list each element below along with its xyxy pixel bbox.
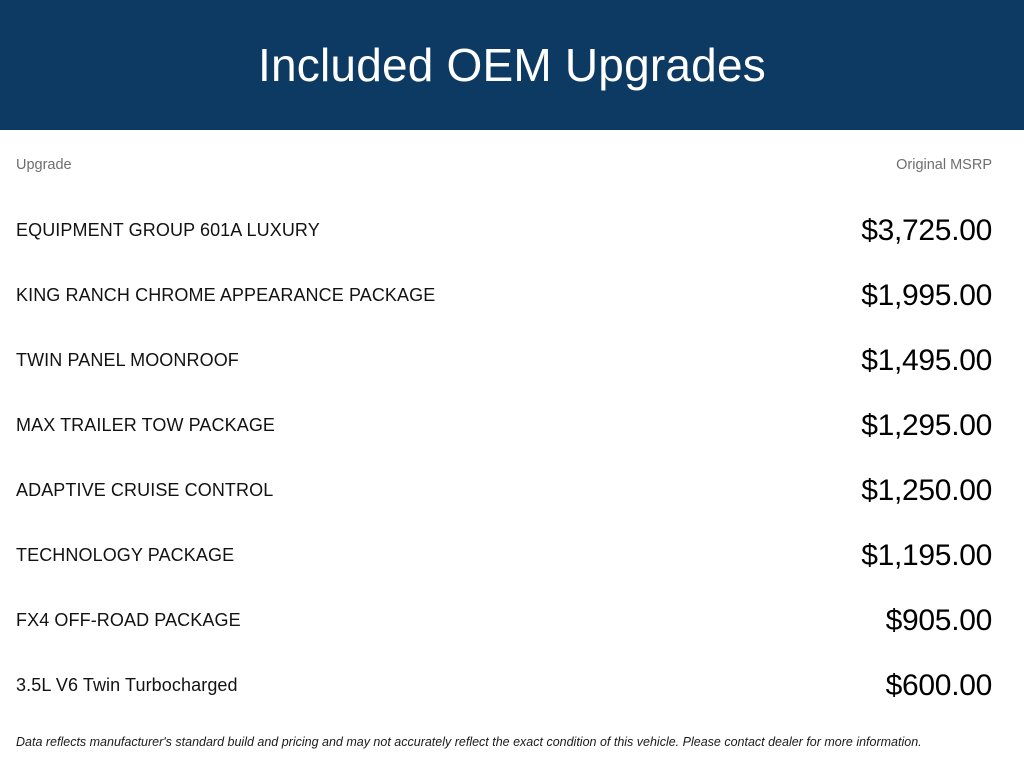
upgrade-msrp: $1,295.00 bbox=[861, 409, 992, 442]
upgrade-name: KING RANCH CHROME APPEARANCE PACKAGE bbox=[16, 286, 435, 306]
table-row: TWIN PANEL MOONROOF $1,495.00 bbox=[16, 328, 992, 393]
page-title: Included OEM Upgrades bbox=[258, 42, 766, 88]
upgrade-name: EQUIPMENT GROUP 601A LUXURY bbox=[16, 221, 320, 241]
upgrade-msrp: $600.00 bbox=[886, 669, 992, 702]
table-row: ADAPTIVE CRUISE CONTROL $1,250.00 bbox=[16, 458, 992, 523]
upgrade-name: TECHNOLOGY PACKAGE bbox=[16, 546, 234, 566]
table-rows: EQUIPMENT GROUP 601A LUXURY $3,725.00 KI… bbox=[16, 198, 992, 718]
upgrade-msrp: $905.00 bbox=[886, 604, 992, 637]
upgrade-msrp: $1,195.00 bbox=[861, 539, 992, 572]
disclaimer-text: Data reflects manufacturer's standard bu… bbox=[16, 734, 1008, 750]
upgrade-msrp: $3,725.00 bbox=[861, 214, 992, 247]
table-row: 3.5L V6 Twin Turbocharged $600.00 bbox=[16, 653, 992, 718]
table-row: KING RANCH CHROME APPEARANCE PACKAGE $1,… bbox=[16, 263, 992, 328]
upgrade-msrp: $1,995.00 bbox=[861, 279, 992, 312]
table-row: TECHNOLOGY PACKAGE $1,195.00 bbox=[16, 523, 992, 588]
upgrade-msrp: $1,495.00 bbox=[861, 344, 992, 377]
table-row: FX4 OFF-ROAD PACKAGE $905.00 bbox=[16, 588, 992, 653]
page-header-banner: Included OEM Upgrades bbox=[0, 0, 1024, 130]
upgrade-msrp: $1,250.00 bbox=[861, 474, 992, 507]
table-row: EQUIPMENT GROUP 601A LUXURY $3,725.00 bbox=[16, 198, 992, 263]
table-row: MAX TRAILER TOW PACKAGE $1,295.00 bbox=[16, 393, 992, 458]
column-header-upgrade: Upgrade bbox=[16, 158, 72, 173]
upgrade-name: FX4 OFF-ROAD PACKAGE bbox=[16, 611, 241, 631]
column-header-original-msrp: Original MSRP bbox=[896, 158, 992, 173]
upgrade-name: MAX TRAILER TOW PACKAGE bbox=[16, 416, 275, 436]
upgrade-name: TWIN PANEL MOONROOF bbox=[16, 351, 239, 371]
footer: Data reflects manufacturer's standard bu… bbox=[0, 718, 1024, 750]
upgrade-name: 3.5L V6 Twin Turbocharged bbox=[16, 676, 238, 696]
table-column-headers: Upgrade Original MSRP bbox=[16, 130, 992, 198]
upgrades-table: Upgrade Original MSRP EQUIPMENT GROUP 60… bbox=[0, 130, 1024, 718]
oem-upgrades-page: Included OEM Upgrades Upgrade Original M… bbox=[0, 0, 1024, 768]
upgrade-name: ADAPTIVE CRUISE CONTROL bbox=[16, 481, 273, 501]
